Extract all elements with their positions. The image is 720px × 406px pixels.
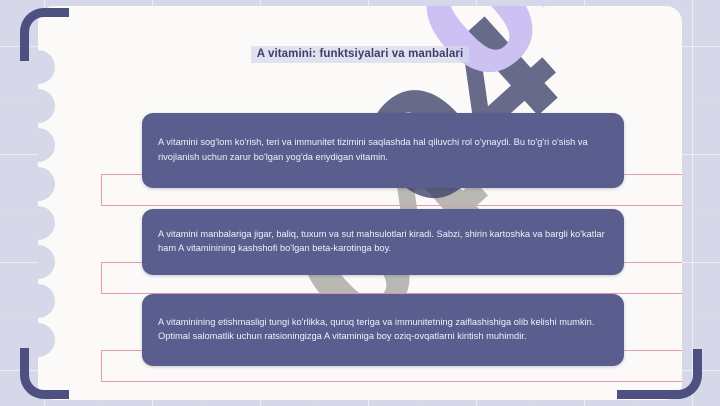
- page-title-text: A vitamini: funktsiyalari va manbalari: [251, 46, 470, 63]
- scallop-notch: [38, 167, 55, 201]
- corner-bracket-bottom-right: [617, 349, 702, 399]
- content-card: A vitamini sog'lom ko'rish, teri va immu…: [142, 113, 624, 188]
- scallop-notch: [38, 128, 55, 162]
- scallop-notch: [38, 245, 55, 279]
- content-card-text: A vitamini manbalariga jigar, baliq, tux…: [158, 227, 608, 255]
- paper-card: 04 04 04 A vitamini: funktsiyalari va ma…: [38, 6, 682, 400]
- content-card-text: A vitaminining etishmasligi tungi ko'rli…: [158, 315, 608, 343]
- content-card: A vitamini manbalariga jigar, baliq, tux…: [142, 209, 624, 275]
- page-title: A vitamini: funktsiyalari va manbalari: [38, 44, 682, 63]
- scallop-notch: [38, 284, 55, 318]
- slide-canvas: 04 04 04 A vitamini: funktsiyalari va ma…: [0, 0, 720, 406]
- corner-bracket-bottom-left: [20, 348, 69, 399]
- scallop-notch: [38, 89, 55, 123]
- corner-bracket-top-left: [20, 8, 69, 61]
- scallop-notch: [38, 206, 55, 240]
- content-card-text: A vitamini sog'lom ko'rish, teri va immu…: [158, 135, 608, 163]
- content-card: A vitaminining etishmasligi tungi ko'rli…: [142, 294, 624, 366]
